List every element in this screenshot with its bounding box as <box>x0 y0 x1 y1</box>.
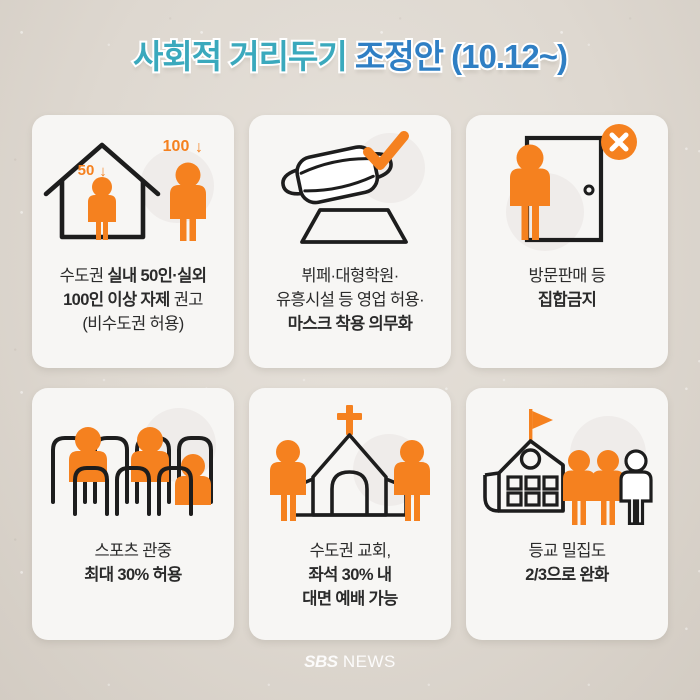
card-mask-mandatory[interactable]: 뷔페·대형학원· 유흥시설 등 영업 허용· 마스크 착용 의무화 <box>249 115 451 368</box>
footer-brand: SBS NEWS <box>0 652 700 672</box>
stadium-seats-icon <box>32 388 234 540</box>
person-door-icon <box>466 115 668 265</box>
card-gathering-limit[interactable]: 50 ↓ 100 ↓ 수도권 실내 50인·실외 100인 이상 자제 권고 (… <box>32 115 234 368</box>
caption-seg: 스포츠 관중 <box>38 540 228 564</box>
caption-seg: 권고 <box>174 291 203 309</box>
caption-seg: 대면 예배 가능 <box>255 588 445 612</box>
church-icon <box>249 388 451 540</box>
card-caption: 수도권 실내 50인·실외 100인 이상 자제 권고 (비수도권 허용) <box>32 265 234 337</box>
card-sports-spectators[interactable]: 스포츠 관중 최대 30% 허용 <box>32 388 234 640</box>
caption-seg: 뷔페·대형학원· <box>255 265 445 289</box>
page-title: 사회적 거리두기 조정안 (10.12~) <box>0 30 700 82</box>
svg-text:50: 50 <box>78 162 95 179</box>
caption-seg: 방문판매 등 <box>472 265 662 289</box>
caption-seg: 등교 밀집도 <box>472 540 662 564</box>
card-caption: 방문판매 등 집합금지 <box>466 265 668 313</box>
card-caption: 스포츠 관중 최대 30% 허용 <box>32 540 234 588</box>
caption-seg: 실내 50인·실외 <box>107 267 206 285</box>
caption-seg: 마스크 착용 의무화 <box>255 313 445 337</box>
svg-text:100: 100 <box>163 138 190 155</box>
card-grid: 50 ↓ 100 ↓ 수도권 실내 50인·실외 100인 이상 자제 권고 (… <box>32 115 668 640</box>
card-door-to-door-ban[interactable]: 방문판매 등 집합금지 <box>466 115 668 368</box>
caption-seg: (비수도권 허용) <box>82 315 183 333</box>
caption-seg: 유흥시설 등 영업 허용· <box>255 289 445 313</box>
card-school-density[interactable]: 등교 밀집도 2/3으로 완화 <box>466 388 668 640</box>
news-label: NEWS <box>338 652 396 671</box>
caption-seg: 집합금지 <box>472 289 662 313</box>
svg-text:↓: ↓ <box>195 139 203 156</box>
card-caption: 뷔페·대형학원· 유흥시설 등 영업 허용· 마스크 착용 의무화 <box>249 265 451 337</box>
card-caption: 등교 밀집도 2/3으로 완화 <box>466 540 668 588</box>
svg-text:↓: ↓ <box>99 163 107 180</box>
caption-seg: 최대 30% 허용 <box>38 564 228 588</box>
caption-seg: 수도권 교회, <box>255 540 445 564</box>
school-icon <box>466 388 668 540</box>
sbs-logo-text: SBS <box>304 652 337 671</box>
caption-seg: 좌석 30% 내 <box>255 564 445 588</box>
page-title-part2: 조정안 (10.12~) <box>355 38 567 75</box>
page-title-part1: 사회적 거리두기 <box>133 38 355 75</box>
mask-icon <box>249 115 451 265</box>
caption-seg: 수도권 <box>60 267 108 285</box>
caption-seg: 2/3으로 완화 <box>472 564 662 588</box>
house-people-icon: 50 ↓ 100 ↓ <box>32 115 234 265</box>
card-caption: 수도권 교회, 좌석 30% 내 대면 예배 가능 <box>249 540 451 612</box>
card-church-worship[interactable]: 수도권 교회, 좌석 30% 내 대면 예배 가능 <box>249 388 451 640</box>
caption-seg: 100인 이상 자제 <box>63 291 174 309</box>
